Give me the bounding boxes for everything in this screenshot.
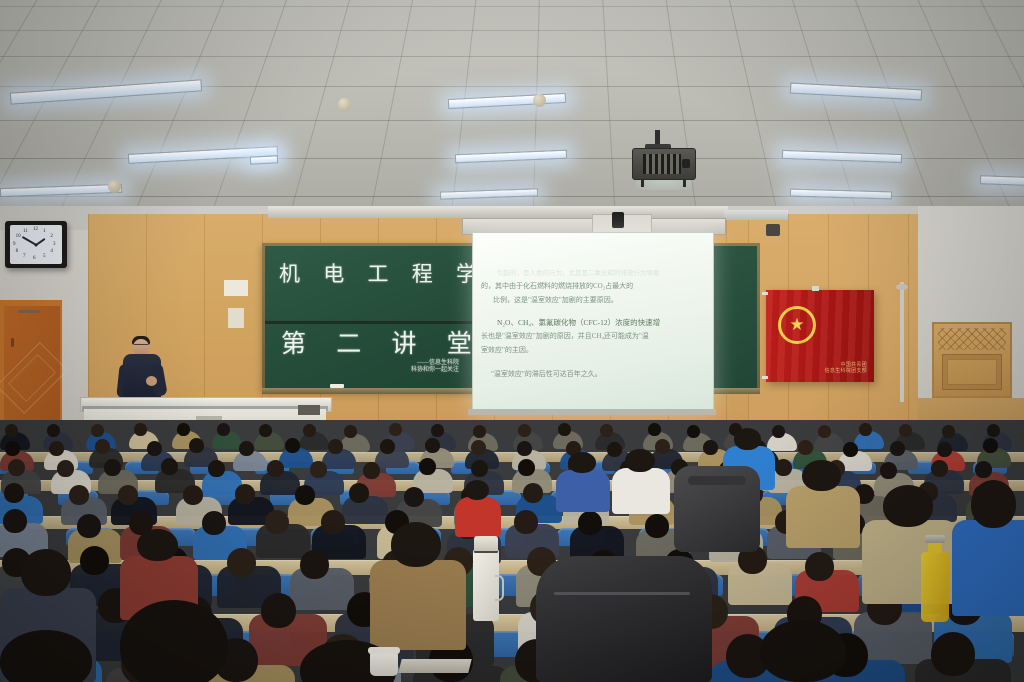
ceiling-tile-line: [532, 0, 541, 232]
ceiling-tile-line: [600, 0, 617, 232]
ceiling-sensor-icon: [108, 180, 121, 193]
clock-center-pin: [35, 243, 38, 246]
ceiling-tile-line: [660, 0, 701, 232]
audience-head: [471, 440, 486, 455]
ceiling-light-fixture: [250, 155, 278, 164]
audience-head: [80, 546, 109, 575]
blackboard-subtitle-line: 第 二 讲 堂: [281, 324, 484, 360]
audience-head: [607, 442, 622, 457]
blackboard: 机 电 工 程 学 第 二 讲 堂 ——信息生科院 科协和你一起关注: [262, 243, 484, 391]
lecturer-hand: [146, 376, 157, 386]
ceiling-tile-line: [207, 0, 301, 226]
audience-head: [518, 424, 531, 437]
audience-head: [558, 423, 571, 436]
clock-numeral: 11: [23, 229, 28, 234]
slide-text-line: 的，其中由于化石燃料的燃烧排放的CO₂占最大的: [481, 281, 633, 291]
blackboard-signature-line2: 科协和你一起关注: [411, 367, 459, 374]
flag-corner-text: 中国共青团 信息生科院团支部: [825, 362, 867, 374]
audience-head: [517, 441, 532, 456]
audience-head: [300, 550, 329, 579]
wall-clock: 121234567891011: [5, 221, 67, 268]
shoulder-bag: [536, 556, 712, 682]
audience-head: [202, 511, 226, 535]
clock-numeral: 5: [43, 254, 46, 259]
audience-head: [648, 423, 661, 436]
blue-coat-person: [952, 520, 1024, 616]
audience-head: [937, 442, 952, 457]
slide-text-line: 长也是"温室效应"加剧的原因，并且CH₄还可能成为"温: [481, 331, 649, 341]
clock-numeral: 8: [16, 249, 19, 254]
flag-tie-top: [762, 292, 768, 295]
audience-head: [419, 458, 436, 475]
speaker-icon: [766, 224, 780, 236]
audience-head: [8, 459, 25, 476]
flag-wall-pin: [812, 286, 819, 291]
audience-head: [3, 509, 27, 533]
red-jacket-person: [455, 497, 501, 537]
audience-head: [147, 441, 162, 456]
clock-numeral: 6: [33, 256, 36, 261]
audience-head: [57, 460, 74, 477]
audience-head: [465, 480, 489, 500]
thermos-flask: [473, 549, 499, 621]
backpack: [674, 466, 760, 552]
audience-head: [189, 438, 204, 453]
star-icon: ★: [789, 316, 804, 333]
ceiling-light-fixture: [448, 93, 566, 109]
flag-tie-bottom: [762, 376, 768, 379]
slide-text-line: 室效应"的主因。: [481, 345, 533, 355]
flag-text-line2: 信息生科院团支部: [825, 368, 867, 374]
audience-head: [734, 428, 761, 450]
glasses-icon: [134, 344, 148, 348]
foreground-head: [760, 620, 846, 682]
blackboard-notice-paper: [224, 280, 248, 296]
audience-head: [859, 423, 872, 436]
ceiling-light-fixture: [455, 150, 567, 164]
audience-head: [568, 452, 596, 473]
audience-head: [239, 441, 254, 456]
navy-jacket-person: [556, 470, 610, 512]
ceiling-sensor-icon: [338, 98, 351, 111]
ceiling-tile-line: [0, 6, 1024, 7]
audience-head: [578, 511, 602, 535]
audience-head: [805, 552, 834, 581]
ceiling-light-fixture: [980, 175, 1024, 186]
audience-head: [655, 439, 670, 454]
audience-head: [471, 460, 488, 477]
slide-text-line: 比例，这是"温室效应"加剧的主要原因。: [493, 295, 618, 305]
audience-head: [890, 441, 905, 456]
audience-head: [4, 483, 24, 503]
slide-text-line: N₂O、CH₄、氯氟碳化物（CFC-12）浓度的快速增: [497, 317, 660, 328]
audience-head: [431, 424, 444, 437]
wall-beam: [268, 206, 728, 218]
ceiling-tile-line: [365, 0, 421, 232]
wall-beam-right: [724, 210, 788, 220]
blackboard-signature-line1: ——信息生科院: [411, 360, 459, 367]
audience-head: [95, 439, 110, 454]
audience-head: [137, 529, 178, 561]
door-closer: [18, 310, 40, 313]
audience-head: [899, 424, 912, 437]
audience-head: [380, 439, 395, 454]
ceiling-tile-line: [0, 120, 1024, 121]
audience-head: [310, 461, 327, 478]
ceiling: [0, 0, 1024, 232]
audience-head: [177, 423, 190, 436]
audience-head: [208, 460, 225, 477]
audience-head: [600, 424, 613, 437]
projection-screen: 引起的，是人类的行为，尤其是二氧化碳的排放行为导致的，其中由于化石燃料的燃烧排放…: [472, 232, 714, 414]
lecture-hall-photo: 121234567891011 机 电 工 程 学 第 二 讲 堂 ——信息生科…: [0, 0, 1024, 682]
audience-head: [703, 440, 718, 455]
blackboard-signature: ——信息生科院 科协和你一起关注: [411, 360, 459, 374]
light-jacket-person: [612, 468, 670, 514]
audience-head: [118, 485, 138, 505]
screen-bottom-bar: [468, 409, 716, 415]
notebook: [398, 659, 471, 673]
ceiling-tile-line: [131, 0, 241, 220]
audience-head: [49, 441, 64, 456]
audience-head: [843, 442, 858, 457]
ceiling-tile-line: [0, 30, 1024, 31]
blackboard-paper-slip: [228, 308, 244, 328]
audience-head: [802, 460, 840, 491]
ceiling-tile-line: [285, 0, 361, 232]
audience-head: [21, 549, 71, 596]
podium-equipment: [298, 405, 320, 415]
audience-head: [134, 423, 147, 436]
clock-numeral: 10: [16, 234, 21, 239]
white-cup: [370, 652, 398, 676]
ceiling-sensor-icon: [533, 94, 546, 107]
flag-emblem-icon: ★: [778, 306, 816, 344]
clock-numeral: 1: [43, 229, 46, 234]
audience-head: [518, 459, 535, 476]
pipe-bracket: [896, 284, 908, 290]
camera-icon: [612, 212, 624, 228]
flag-text-line1: 中国共青团: [825, 362, 867, 368]
clock-numeral: 12: [33, 227, 38, 232]
audience-head: [987, 424, 1000, 437]
chalk-piece: [330, 384, 344, 388]
audience-head: [91, 424, 104, 437]
audience-head: [514, 510, 538, 534]
audience-head: [259, 424, 272, 437]
slide-text-line: "温室效应"的滞后性可达百年之久。: [491, 369, 602, 379]
drink-bottle: [921, 552, 949, 622]
clock-face: 121234567891011: [10, 225, 62, 264]
audience-head: [183, 485, 203, 505]
audience-head: [931, 632, 975, 676]
audience-head: [5, 424, 18, 437]
audience-head: [227, 548, 256, 577]
slide-text-line: 引起的，是人类的行为，尤其是二氧化碳的排放行为导致: [497, 267, 660, 277]
audience-head: [931, 460, 948, 477]
classroom-door[interactable]: [0, 300, 62, 428]
clock-numeral: 3: [53, 242, 56, 247]
audience-head: [267, 460, 284, 477]
audience-head: [775, 459, 792, 476]
audience-head: [473, 425, 486, 438]
audience-head: [983, 438, 998, 453]
clock-numeral: 9: [13, 242, 16, 247]
audience-head: [104, 459, 121, 476]
audience-head: [391, 522, 441, 567]
audience-head: [975, 461, 992, 478]
audience-head: [261, 593, 296, 628]
audience-head: [77, 514, 101, 538]
ceiling-light-fixture: [10, 79, 202, 104]
decorative-wall-panel: [932, 322, 1012, 398]
audience-head: [235, 484, 255, 504]
audience-head: [798, 440, 813, 455]
audience-head: [772, 425, 785, 438]
audience-head: [645, 514, 669, 538]
ceiling-light-fixture: [790, 189, 892, 200]
blackboard-title-line: 机 电 工 程 学: [279, 258, 486, 288]
wall-pipe: [900, 282, 904, 402]
clock-numeral: 7: [23, 254, 26, 259]
ceiling-tile-line: [720, 0, 783, 232]
audience-head: [404, 487, 424, 507]
foreground-head: [120, 600, 228, 682]
audience-head: [363, 462, 380, 479]
audience-head: [69, 485, 89, 505]
audience-head: [265, 510, 289, 534]
projector-icon: [632, 148, 696, 180]
audience-head: [328, 439, 343, 454]
youth-league-flag: ★ 中国共青团 信息生科院团支部: [766, 290, 874, 382]
audience-head: [321, 510, 345, 534]
tan-coat-person: [786, 486, 860, 548]
audience-head: [523, 483, 543, 503]
audience-head: [625, 449, 655, 472]
clock-numeral: 2: [50, 234, 53, 239]
clock-numeral: 4: [50, 249, 53, 254]
audience-head: [285, 438, 300, 453]
audience-head: [217, 423, 230, 436]
audience-head: [883, 485, 933, 527]
khaki-coat-person: [370, 560, 466, 650]
audience-head: [971, 480, 1016, 528]
ceiling-tile-line: [0, 56, 1024, 57]
door-handle-icon[interactable]: [11, 338, 14, 347]
